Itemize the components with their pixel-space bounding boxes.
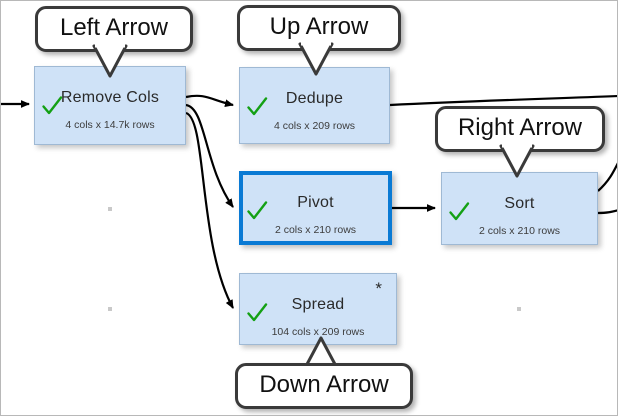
edge-sort-right-lower <box>598 210 618 213</box>
edge-dedupe-right <box>390 96 618 105</box>
check-icon <box>246 200 268 222</box>
callout-label: Left Arrow <box>60 14 168 41</box>
flow-canvas[interactable]: Remove Cols 4 cols x 14.7k rows Dedupe 4… <box>0 0 618 416</box>
callout-left-arrow: Left Arrow <box>35 6 193 52</box>
callout-down-arrow: Down Arrow <box>235 363 413 409</box>
callout-label: Up Arrow <box>270 13 369 40</box>
node-meta: 4 cols x 14.7k rows <box>35 119 185 131</box>
callout-tail-down-icon <box>296 42 336 76</box>
edge-remove-cols-dedupe <box>186 96 233 105</box>
edge-remove-cols-spread <box>186 113 233 308</box>
callout-bubble: Down Arrow <box>235 363 413 409</box>
node-dedupe[interactable]: Dedupe 4 cols x 209 rows <box>239 67 390 144</box>
grid-dot <box>108 207 112 211</box>
node-sort[interactable]: Sort 2 cols x 210 rows <box>441 172 598 245</box>
check-icon <box>448 201 470 223</box>
node-spread[interactable]: * Spread 104 cols x 209 rows <box>239 273 397 345</box>
edge-sort-right-upper <box>598 161 618 191</box>
callout-right-arrow: Right Arrow <box>435 106 605 152</box>
grid-dot <box>108 307 112 311</box>
check-icon <box>246 96 268 118</box>
node-meta: 2 cols x 210 rows <box>442 225 597 237</box>
callout-up-arrow: Up Arrow <box>237 5 401 51</box>
check-icon <box>246 302 268 324</box>
callout-tail-down-icon <box>90 44 130 78</box>
callout-label: Down Arrow <box>259 371 388 398</box>
callout-tail-down-icon <box>497 144 537 178</box>
edge-remove-cols-pivot <box>186 105 233 207</box>
modified-marker-icon: * <box>375 280 382 297</box>
node-pivot[interactable]: Pivot 2 cols x 210 rows <box>239 171 392 245</box>
check-icon <box>41 95 63 117</box>
node-meta: 2 cols x 210 rows <box>243 224 388 236</box>
grid-dot <box>517 307 521 311</box>
callout-label: Right Arrow <box>458 114 582 141</box>
node-meta: 4 cols x 209 rows <box>240 120 389 132</box>
